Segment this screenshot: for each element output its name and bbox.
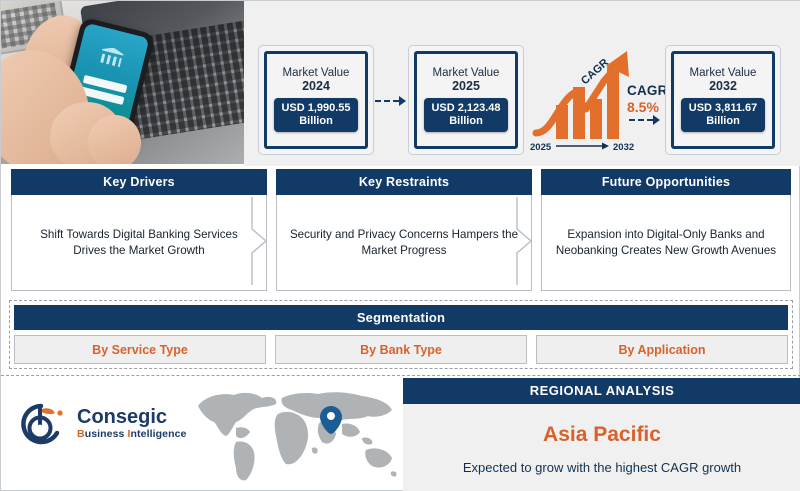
regional-analysis-region: Asia Pacific [403, 423, 800, 447]
market-value-year: 2024 [283, 80, 350, 93]
market-value-label-text: Market Value [690, 67, 757, 79]
market-value-amount: USD 1,990.55 Billion [274, 98, 358, 132]
segmentation-heading: Segmentation [14, 305, 788, 330]
market-value-card-inner: Market Value 2024 USD 1,990.55 Billion [264, 51, 368, 149]
chevron-separator-2 [516, 197, 532, 285]
market-value-amount: USD 3,811.67 Billion [681, 98, 765, 132]
future-opportunities-column: Future Opportunities Expansion into Digi… [541, 169, 791, 291]
segmentation-cell-bank-type[interactable]: By Bank Type [275, 335, 527, 364]
chevron-icon [516, 197, 532, 285]
segmentation-cell-service-type[interactable]: By Service Type [14, 335, 266, 364]
cagr-label: CAGR [627, 83, 668, 98]
chevron-separator-1 [251, 197, 267, 285]
cagr-readout: CAGR 8.5% [627, 83, 668, 115]
market-value-card-inner: Market Value 2025 USD 2,123.48 Billion [414, 51, 518, 149]
market-value-panel: Retail Banking Market Market Value 2024 … [244, 1, 800, 166]
market-value-card-inner: Market Value 2032 USD 3,811.67 Billion [671, 51, 775, 149]
connector-arrow-1 [375, 96, 406, 106]
market-value-label-text: Market Value [283, 67, 350, 79]
arrow-tip-icon [399, 96, 406, 106]
market-value-label: Market Value 2032 [690, 67, 757, 93]
cagr-value: 8.5% [627, 99, 668, 115]
key-drivers-heading: Key Drivers [11, 169, 267, 195]
key-drivers-text: Shift Towards Digital Banking Services D… [24, 227, 254, 259]
brand-tagline-usiness: usiness [85, 428, 128, 440]
world-map [186, 384, 401, 488]
market-value-label: Market Value 2025 [433, 67, 500, 93]
market-value-year: 2025 [433, 80, 500, 93]
dashed-line [629, 119, 653, 121]
footer-section: Consegic Business Intelligence [1, 375, 800, 491]
brand-name: Consegic [77, 407, 187, 428]
top-section: Retail Banking Market Market Value 2024 … [1, 1, 800, 166]
brand-text: Consegic Business Intelligence [77, 407, 187, 441]
brand-logo: Consegic Business Intelligence [15, 400, 187, 448]
market-value-label: Market Value 2024 [283, 67, 350, 93]
brand-tagline-b: B [77, 428, 85, 440]
cagr-axis-arrow-icon [602, 143, 609, 150]
brand-tagline: Business Intelligence [77, 428, 187, 441]
world-map-svg [186, 384, 401, 488]
segmentation-row: By Service Type By Bank Type By Applicat… [14, 335, 788, 364]
future-opportunities-heading: Future Opportunities [541, 169, 791, 195]
key-drivers-column: Key Drivers Shift Towards Digital Bankin… [11, 169, 267, 291]
future-opportunities-body: Expansion into Digital-Only Banks and Ne… [541, 195, 791, 291]
cagr-end-year: 2032 [613, 142, 634, 153]
chevron-icon [251, 197, 267, 285]
key-restraints-heading: Key Restraints [276, 169, 532, 195]
key-restraints-column: Key Restraints Security and Privacy Conc… [276, 169, 532, 291]
infographic-page: Retail Banking Market Market Value 2024 … [0, 0, 800, 491]
segmentation-section: Segmentation By Service Type By Bank Typ… [9, 300, 793, 369]
market-value-card-2032: Market Value 2032 USD 3,811.67 Billion [665, 45, 781, 155]
market-value-card-2025: Market Value 2025 USD 2,123.48 Billion [408, 45, 524, 155]
world-map-landmasses [198, 392, 397, 480]
market-value-amount: USD 2,123.48 Billion [424, 98, 508, 132]
key-restraints-text: Security and Privacy Concerns Hampers th… [289, 227, 519, 259]
future-opportunities-text: Expansion into Digital-Only Banks and Ne… [554, 227, 778, 259]
bank-icon-columns [99, 54, 121, 68]
brand-tagline-ntelligence: ntelligence [131, 428, 187, 440]
connector-arrow-2 [629, 115, 660, 125]
key-drivers-body: Shift Towards Digital Banking Services D… [11, 195, 267, 291]
dashed-line [375, 100, 399, 102]
regional-analysis-panel: REGIONAL ANALYSIS Asia Pacific Expected … [403, 378, 800, 491]
mobile-banking-photo [1, 1, 244, 164]
regional-analysis-heading: REGIONAL ANALYSIS [403, 378, 800, 404]
consegic-logo-icon [15, 400, 69, 448]
market-value-label-text: Market Value [433, 67, 500, 79]
cagr-start-year: 2025 [530, 142, 552, 153]
market-value-year: 2032 [690, 80, 757, 93]
segmentation-cell-application[interactable]: By Application [536, 335, 788, 364]
market-value-card-2024: Market Value 2024 USD 1,990.55 Billion [258, 45, 374, 155]
cagr-growth-chart: CAGR 2025 2032 CAGR 8.5% [530, 41, 660, 159]
arrow-tip-icon [653, 115, 660, 125]
regional-analysis-subtitle: Expected to grow with the highest CAGR g… [403, 460, 800, 475]
key-restraints-body: Security and Privacy Concerns Hampers th… [276, 195, 532, 291]
drivers-section: Key Drivers Shift Towards Digital Bankin… [1, 169, 800, 291]
